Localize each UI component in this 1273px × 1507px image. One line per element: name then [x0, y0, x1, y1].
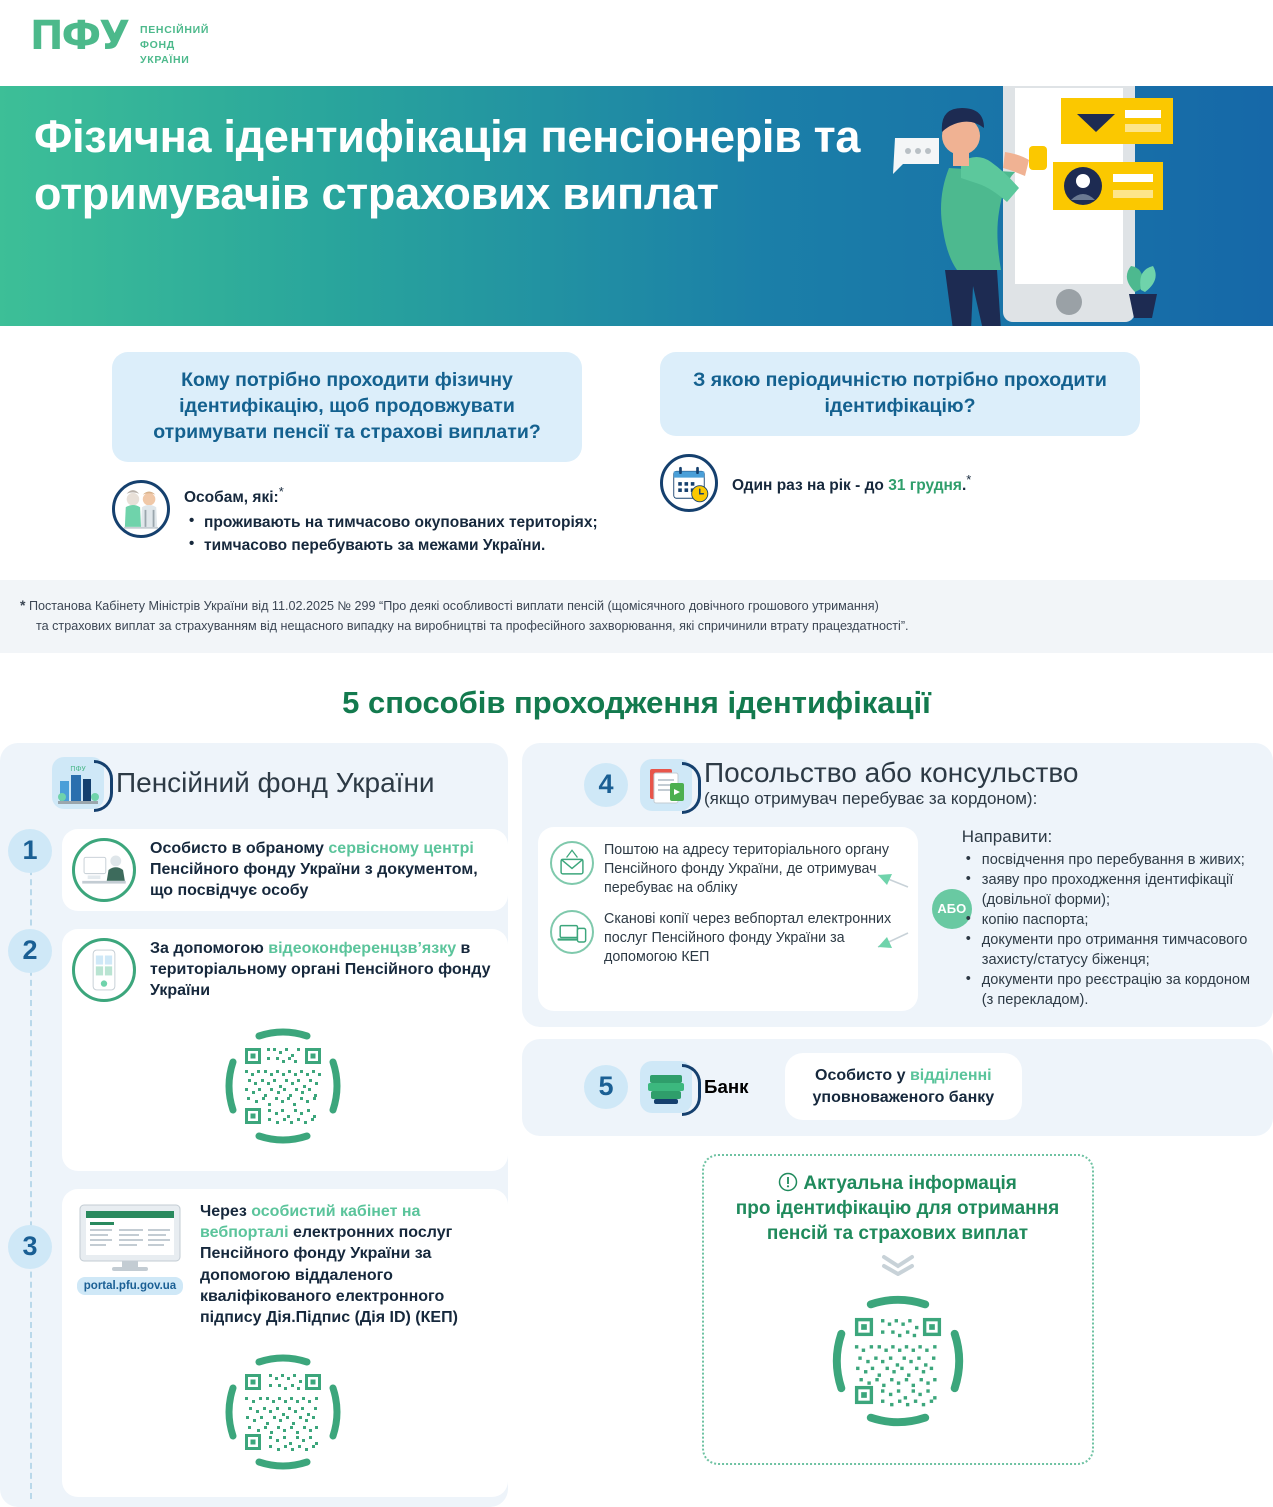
step-1-part-1: Особисто в обраному	[150, 840, 328, 857]
step-1-card[interactable]: Особисто в обраному сервісному центрі Пе…	[62, 829, 508, 911]
actual-info-line-2: про ідентифікацію для отримання	[714, 1197, 1082, 1222]
step-3[interactable]: 3	[0, 1179, 508, 1498]
video-call-phone-icon	[72, 938, 136, 1002]
step-3-icon-group: portal.pfu.gov.ua	[72, 1201, 188, 1295]
actual-info-box[interactable]: Актуальна інформація про ідентифікацію д…	[702, 1154, 1094, 1465]
embassy-panel: 4 Посольство або консульство (якщо отрим…	[522, 743, 1273, 1027]
pfu-panel-header: ПФУ Пенсійний фонд України	[0, 743, 508, 819]
embassy-send-list-block: Направити: посвідчення про перебування в…	[928, 827, 1257, 1011]
brand-header: ПФУ Пенсійний фонд України	[0, 0, 1273, 86]
pfu-logo-words: Пенсійний фонд України	[140, 18, 209, 68]
step-number-4: 4	[584, 763, 628, 807]
step-number-1: 1	[8, 829, 52, 873]
question-text-frequency: З якою періодичністю потрібно проходити …	[660, 352, 1140, 436]
logo-line-1: Пенсійний	[140, 23, 209, 38]
answer-bullet: тимчасово перебувають за межами України.	[184, 534, 598, 557]
bank-building-icon	[640, 1061, 692, 1113]
question-block-frequency: З якою періодичністю потрібно проходити …	[624, 352, 1224, 558]
footnote-line-2: та страхових виплат за страхуванням від …	[20, 616, 1140, 636]
step-2-part-1: За допомогою	[150, 940, 268, 957]
footnote-line-1: Постанова Кабінету Міністрів України від…	[29, 599, 879, 613]
section-title: 5 способів проходження ідентифікації	[0, 653, 1273, 743]
qr-portal[interactable]	[223, 1352, 343, 1472]
pfu-building-icon: ПФУ	[52, 757, 104, 809]
pfu-panel-heading: Пенсійний фонд України	[116, 767, 435, 799]
logo-line-2: фонд	[140, 38, 209, 53]
hero-illustration	[853, 86, 1273, 326]
step-number-2: 2	[8, 929, 52, 973]
methods-grid: ПФУ Пенсійний фонд України 1	[0, 743, 1273, 1507]
answer-who: Особам, які:* проживають на тимчасово ок…	[112, 480, 600, 558]
bank-answer-part-3: уповноваженого банку	[813, 1089, 995, 1106]
actual-info-title: Актуальна інформація	[714, 1172, 1082, 1197]
step-number-5: 5	[584, 1065, 628, 1109]
embassy-option-mail[interactable]: Поштою на адресу територіального органу …	[550, 841, 906, 898]
qr-actual-info[interactable]	[830, 1293, 966, 1429]
answer-lead: Особам, які:	[184, 489, 279, 506]
send-list: посвідчення про перебування в живих; зая…	[962, 851, 1257, 1010]
embassy-panel-subheading: (якщо отримувач перебуває за кордоном):	[704, 789, 1078, 809]
step-1[interactable]: 1 Особисто в обраному сервісному центрі …	[0, 819, 508, 911]
answer-asterisk: *	[966, 472, 971, 487]
logo-line-3: України	[140, 53, 209, 68]
actual-info-line-3: пенсій та страхових виплат	[714, 1222, 1082, 1247]
calendar-clock-icon	[660, 454, 718, 512]
send-list-title: Направити:	[962, 827, 1257, 847]
bank-panel-heading: Банк	[704, 1076, 749, 1098]
questions-row: Кому потрібно проходити фізичну ідентифі…	[0, 326, 1273, 558]
bank-answer: Особисто у відділенні уповноваженого бан…	[785, 1053, 1023, 1120]
send-list-item: копію паспорта;	[962, 911, 1257, 930]
exclamation-circle-icon	[778, 1172, 798, 1192]
answer-asterisk: *	[279, 484, 284, 499]
step-2-text: За допомогою відеоконференцзв’язку в тер…	[150, 938, 494, 1002]
pfu-panel: ПФУ Пенсійний фонд України 1	[0, 743, 508, 1507]
answer-prefix: Один раз на рік - до	[732, 477, 888, 494]
embassy-content: Поштою на адресу територіального органу …	[522, 821, 1273, 1027]
page-title: Фізична ідентифікація пенсіонерів та отр…	[34, 108, 864, 222]
step-2[interactable]: 2 За допомогою відеоконференц	[0, 919, 508, 1171]
bank-answer-highlight: відділенні	[910, 1067, 992, 1084]
laptop-phone-icon	[550, 910, 594, 954]
answer-bullets: проживають на тимчасово окупованих терит…	[184, 511, 598, 558]
step-1-text: Особисто в обраному сервісному центрі Пе…	[150, 838, 494, 902]
pfu-column: ПФУ Пенсійний фонд України 1	[0, 743, 508, 1507]
answer-text-who: Особам, які:* проживають на тимчасово ок…	[184, 480, 598, 558]
answer-frequency: Один раз на рік - до 31 грудня.*	[660, 454, 1224, 512]
bank-answer-part-1: Особисто у	[815, 1067, 910, 1084]
send-list-item: документи про реєстрацію за кордоном (з …	[962, 971, 1257, 1010]
svg-text:ПФУ: ПФУ	[70, 765, 86, 773]
step-1-highlight: сервісному центрі	[328, 840, 473, 857]
pfu-logo-mark: ПФУ	[30, 18, 128, 55]
service-center-desk-icon	[72, 838, 136, 902]
step-2-highlight: відеоконференцзв’язку	[268, 940, 456, 957]
bank-panel-header: 5 Банк Особисто у відділенні уповноважен…	[522, 1053, 1273, 1120]
embassy-option-mail-text: Поштою на адресу територіального органу …	[604, 841, 906, 898]
embassy-heading-group: Посольство або консульство (якщо отримув…	[704, 757, 1078, 809]
qr-videoconference[interactable]	[223, 1026, 343, 1146]
actual-info-line-1: Актуальна інформація	[803, 1173, 1016, 1194]
step-1-part-3: Пенсійного фонду України з документом, щ…	[150, 861, 478, 899]
send-list-item: посвідчення про перебування в живих;	[962, 851, 1257, 870]
embassy-options-card: Поштою на адресу територіального органу …	[538, 827, 918, 1011]
step-3-card[interactable]: portal.pfu.gov.ua Через особистий кабіне…	[62, 1189, 508, 1498]
embassy-option-scan[interactable]: Сканові копії через вебпортал електронни…	[550, 910, 906, 967]
question-text-who: Кому потрібно проходити фізичну ідентифі…	[112, 352, 582, 462]
portal-url-tag[interactable]: portal.pfu.gov.ua	[77, 1277, 183, 1295]
right-column: 4 Посольство або консульство (якщо отрим…	[522, 743, 1273, 1466]
answer-bullet: проживають на тимчасово окупованих терит…	[184, 511, 598, 534]
question-block-who: Кому потрібно проходити фізичну ідентифі…	[0, 352, 600, 558]
send-list-item: документи про отримання тимчасового захи…	[962, 931, 1257, 970]
answer-text-frequency: Один раз на рік - до 31 грудня.*	[732, 454, 971, 497]
documents-send-icon	[640, 759, 692, 811]
chevron-down-icon	[878, 1254, 918, 1276]
embassy-panel-heading: Посольство або консульство	[704, 757, 1078, 789]
embassy-panel-header: 4 Посольство або консульство (якщо отрим…	[522, 743, 1273, 821]
answer-highlight: 31 грудня	[888, 477, 962, 494]
step-3-part-1: Через	[200, 1203, 251, 1220]
hero-banner: Фізична ідентифікація пенсіонерів та отр…	[0, 86, 1273, 326]
elderly-couple-icon	[112, 480, 170, 538]
footnote-text: * Постанова Кабінету Міністрів України в…	[20, 594, 1140, 637]
bank-panel: 5 Банк Особисто у відділенні уповноважен…	[522, 1039, 1273, 1136]
footnote-band: * Постанова Кабінету Міністрів України в…	[0, 580, 1273, 653]
footnote-asterisk: *	[20, 597, 25, 613]
step-number-3: 3	[8, 1225, 52, 1269]
send-list-item: заяву про проходження ідентифікації (дов…	[962, 871, 1257, 910]
desktop-portal-icon	[74, 1201, 186, 1271]
step-3-text: Через особистий кабінет на вебпорталі ел…	[200, 1201, 494, 1329]
step-2-card[interactable]: За допомогою відеоконференцзв’язку в тер…	[62, 929, 508, 1171]
embassy-option-scan-text: Сканові копії через вебпортал електронни…	[604, 910, 906, 967]
mail-envelope-icon	[550, 841, 594, 885]
